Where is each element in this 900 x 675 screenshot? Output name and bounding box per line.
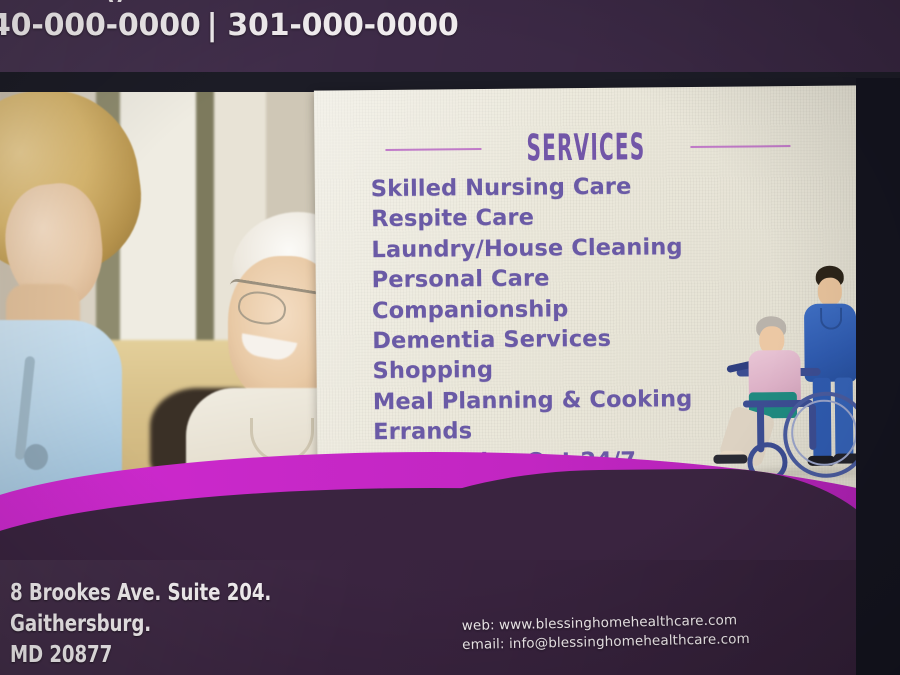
list-item: Companionship [372,292,727,326]
services-header: SERVICES [314,127,860,168]
list-item: Errands [373,414,728,448]
caregiver-elderly-photo [0,88,340,500]
right-frame-edge [856,78,900,675]
stethoscope-bell-icon [24,444,48,470]
address-line: Gaithersburg. [10,609,271,640]
dash-right-icon [690,145,790,148]
list-item: Laundry/House Cleaning [371,231,726,265]
list-item: Meal Planning & Cooking [373,384,728,418]
dash-left-icon [385,148,481,151]
brochure-photo: y 40-000-0000|301-000-0000 SERVICES Skil… [0,0,900,675]
phone-secondary: 301-000-0000 [227,8,458,43]
address-line: MD 20877 [10,640,271,671]
clipped-top-text: y [108,0,148,2]
list-item: Skilled Nursing Care [371,171,726,205]
list-item: Respite Care [371,201,726,235]
wheelchair-photo [712,263,864,486]
list-item: Dementia Services [372,323,727,357]
services-title: SERVICES [526,126,645,170]
wheelchair-footplate [713,454,747,463]
phone-numbers: 40-000-0000|301-000-0000 [0,8,610,43]
nurse-face [818,278,842,306]
phone-separator: | [201,8,228,43]
list-item: Shopping [372,353,727,387]
list-item: Personal Care [372,262,727,296]
wheelchair-wheel-rim [791,399,858,466]
phone-primary: 40-000-0000 [0,8,201,43]
nurse-stethoscope-icon [820,308,842,330]
contact-block: web: www.blessinghomehealthcare.com emai… [462,611,750,655]
address-line: 8 Brookes Ave. Suite 204. [10,578,271,609]
address-block: 8 Brookes Ave. Suite 204. Gaithersburg. … [10,578,307,671]
